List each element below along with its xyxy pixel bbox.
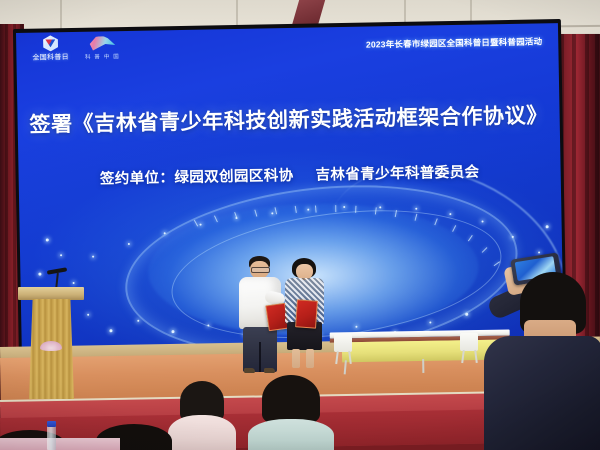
chair-left — [334, 334, 352, 364]
certificate-folder-female — [295, 299, 318, 328]
national-science-day-logo: 全国科普日 — [32, 35, 69, 63]
trouser-seam — [259, 342, 261, 372]
female-signatory-leg — [306, 349, 314, 368]
ceremony-title: 签署《吉林省青少年科技创新实践活动框架合作协议》 — [17, 99, 559, 139]
water-bottle-cap — [47, 421, 56, 427]
wing-swoosh-icon — [89, 36, 115, 51]
audience-woman-center — [168, 381, 236, 450]
speaking-podium — [20, 287, 82, 402]
signing-party-a: 绿园双创园区科协 — [174, 168, 293, 186]
female-signatory — [282, 258, 326, 368]
signing-party-b: 吉林省青少年科普委员会 — [315, 165, 479, 184]
signing-parties-label: 签约单位： — [100, 170, 175, 187]
glasses-icon — [251, 267, 270, 273]
male-signatory-shoe — [244, 368, 255, 373]
photographer-suit — [484, 336, 600, 450]
photographer-right — [484, 258, 600, 450]
chair-right — [460, 333, 478, 363]
event-banner-text: 2023年长春市绿园区全国科普日暨科普园活动 — [366, 35, 543, 50]
male-signatory-shoe — [264, 368, 275, 373]
secondary-event-logo-label: 科 普 中 国 — [85, 52, 120, 61]
front-table — [0, 438, 120, 450]
national-science-day-logo-label: 全国科普日 — [32, 52, 69, 63]
photo-scene: 全国科普日 科 普 中 国 2023年长春市绿园区全国科普日暨科普园活动 签署《… — [0, 0, 600, 450]
led-logo-row: 全国科普日 科 普 中 国 — [32, 34, 120, 63]
male-signatory — [237, 256, 283, 368]
floral-emblem-icon — [40, 341, 62, 351]
hexagon-cube-icon — [43, 35, 58, 51]
water-bottle — [47, 424, 56, 450]
audience-man-center-right — [248, 375, 334, 450]
female-signatory-leg — [292, 349, 300, 368]
secondary-event-logo: 科 普 中 国 — [85, 36, 120, 61]
podium-top — [18, 287, 84, 300]
